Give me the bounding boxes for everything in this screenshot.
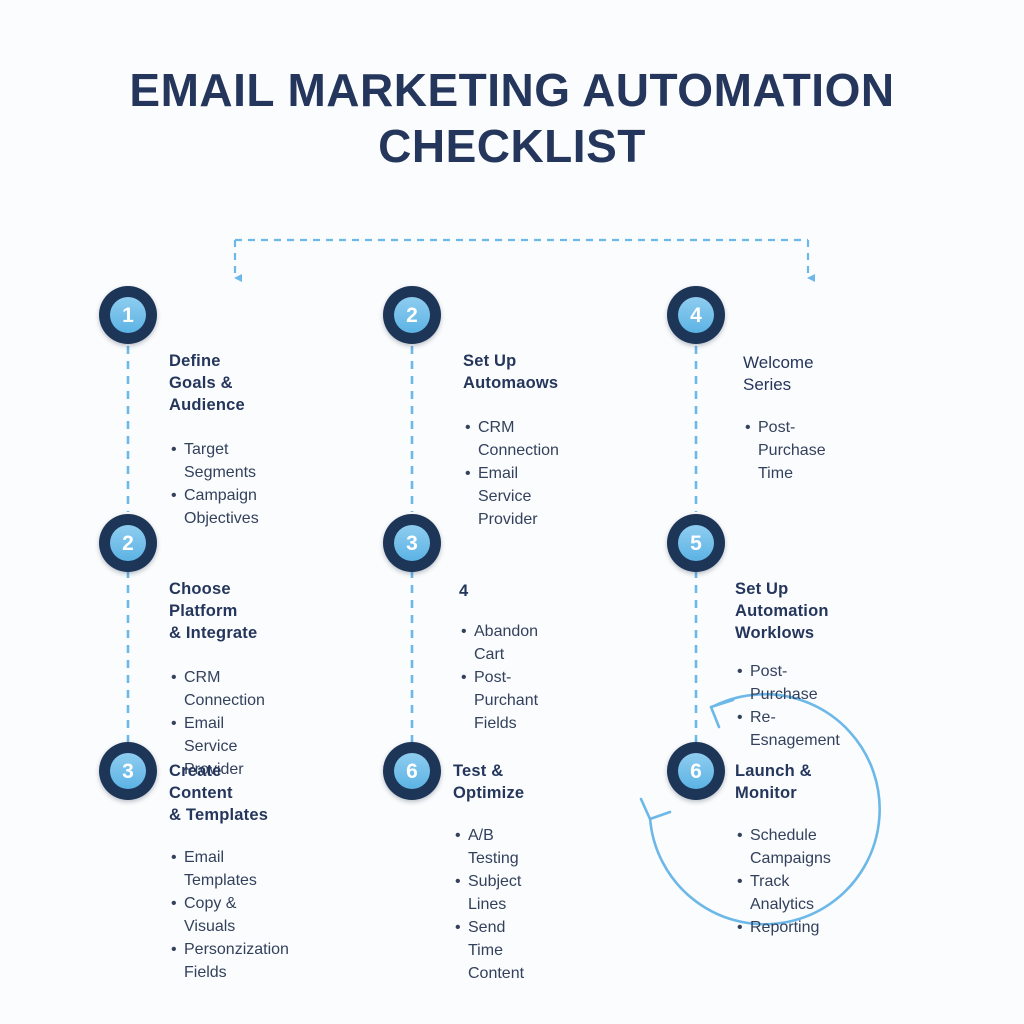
- step-bullet-list: A/B TestingSubject LinesSend TimeContent: [455, 824, 524, 985]
- step-bullet-item: Copy & Visuals: [171, 892, 289, 938]
- step-heading: Set Up Automation Worklows: [735, 578, 840, 644]
- step-number-badge[interactable]: 6: [383, 742, 441, 800]
- step-body: Define Goals & AudienceTarget SegmentsCa…: [169, 350, 259, 530]
- step-number-label: 1: [122, 305, 134, 326]
- step-bullet-item: Subject Lines: [455, 870, 524, 916]
- step-number-disc: 2: [394, 297, 430, 333]
- step-number-disc: 2: [110, 525, 146, 561]
- step-number-label: 3: [122, 761, 134, 782]
- step-bullet-item: Campaign Objectives: [171, 484, 259, 530]
- step-number-badge[interactable]: 2: [383, 286, 441, 344]
- infographic-canvas: Email Marketing Automation Checklist: [0, 0, 1024, 1024]
- step-number-disc: 3: [394, 525, 430, 561]
- step-body: Create Content & TemplatesEmail Template…: [169, 760, 289, 984]
- step-number-disc: 5: [678, 525, 714, 561]
- step-bullet-item: CRM Connection: [171, 666, 265, 712]
- step-number-label: 6: [690, 761, 702, 782]
- step-heading: Test & Optimize: [453, 760, 524, 804]
- step-bullet-item: Content: [455, 962, 524, 985]
- step-body: Set Up Automation WorklowsPost-PurchaseR…: [735, 578, 840, 752]
- step-heading: Define Goals & Audience: [169, 350, 259, 416]
- step-heading: Welcome Series: [743, 352, 826, 396]
- step-number-disc: 1: [110, 297, 146, 333]
- step-body: Choose Platform & IntegrateCRM Connectio…: [169, 578, 265, 781]
- step-bullet-item: Post-Purchant Fields: [461, 666, 538, 735]
- step-number-label: 5: [690, 533, 702, 554]
- step-number-badge[interactable]: 2: [99, 514, 157, 572]
- step-bullet-list: Target SegmentsCampaign Objectives: [171, 438, 259, 530]
- step-bullet-item: CRM Connection: [465, 416, 559, 462]
- step-bullet-item: Personzization Fields: [171, 938, 289, 984]
- page-title: Email Marketing Automation Checklist: [0, 62, 1024, 174]
- step-bullet-list: CRM ConnectionEmail Service Provider: [465, 416, 559, 531]
- step-heading: Create Content & Templates: [169, 760, 289, 826]
- step-bullet-item: Re-Esnagement: [737, 706, 840, 752]
- top-bracket: [235, 240, 808, 278]
- step-body: Launch & MonitorSchedule CampaignsTrack …: [735, 760, 831, 939]
- step-number-label: 6: [406, 761, 418, 782]
- step-number-label: 2: [122, 533, 134, 554]
- step-body: Test & OptimizeA/B TestingSubject LinesS…: [453, 760, 524, 985]
- step-heading: Set Up Automaows: [463, 350, 559, 394]
- step-bullet-item: Track Analytics: [737, 870, 831, 916]
- step-bullet-item: Target Segments: [171, 438, 259, 484]
- step-bullet-item: Post-Purchase Time: [745, 416, 826, 485]
- step-heading: 4: [459, 580, 538, 602]
- step-body: Welcome SeriesPost-Purchase Time: [743, 352, 826, 485]
- step-bullet-list: Post-Purchase Time: [745, 416, 826, 485]
- step-bullet-item: Email Templates: [171, 846, 289, 892]
- step-number-badge[interactable]: 3: [99, 742, 157, 800]
- step-number-disc: 6: [678, 753, 714, 789]
- step-number-label: 3: [406, 533, 418, 554]
- step-body: Set Up AutomaowsCRM ConnectionEmail Serv…: [463, 350, 559, 531]
- step-bullet-list: Abandon CartPost-Purchant Fields: [461, 620, 538, 735]
- step-number-badge[interactable]: 1: [99, 286, 157, 344]
- step-number-badge[interactable]: 4: [667, 286, 725, 344]
- step-number-badge[interactable]: 3: [383, 514, 441, 572]
- step-bullet-list: Post-PurchaseRe-Esnagement: [737, 660, 840, 752]
- step-bullet-list: Schedule CampaignsTrack AnalyticsReporti…: [737, 824, 831, 939]
- step-bullet-list: Email TemplatesCopy & VisualsPersonzizat…: [171, 846, 289, 984]
- step-bullet-item: Email Service Provider: [465, 462, 559, 531]
- step-bullet-item: Schedule Campaigns: [737, 824, 831, 870]
- step-body: 4Abandon CartPost-Purchant Fields: [459, 580, 538, 735]
- step-number-disc: 4: [678, 297, 714, 333]
- step-heading: Choose Platform & Integrate: [169, 578, 265, 644]
- step-bullet-item: A/B Testing: [455, 824, 524, 870]
- step-number-label: 2: [406, 305, 418, 326]
- step-number-disc: 3: [110, 753, 146, 789]
- step-bullet-item: Post-Purchase: [737, 660, 840, 706]
- step-number-badge[interactable]: 6: [667, 742, 725, 800]
- step-bullet-item: Send Time: [455, 916, 524, 962]
- step-number-badge[interactable]: 5: [667, 514, 725, 572]
- step-heading: Launch & Monitor: [735, 760, 831, 804]
- step-bullet-item: Abandon Cart: [461, 620, 538, 666]
- step-number-disc: 6: [394, 753, 430, 789]
- step-bullet-item: Reporting: [737, 916, 831, 939]
- step-number-label: 4: [690, 305, 702, 326]
